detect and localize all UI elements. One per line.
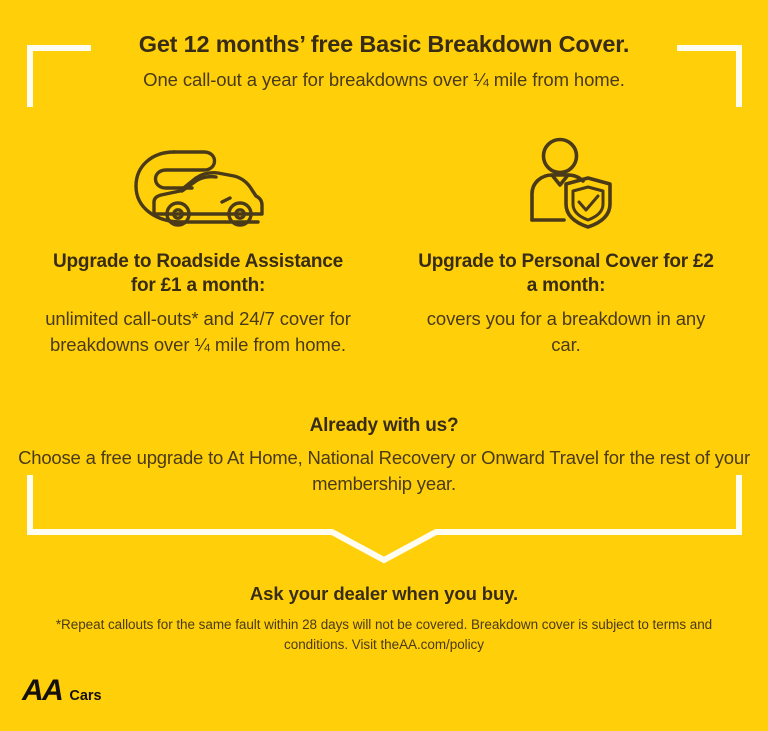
page-subtitle: One call-out a year for breakdowns over … [0,68,768,92]
legal-disclaimer: *Repeat callouts for the same fault with… [54,615,714,654]
breakdown-cover-poster: Get 12 months’ free Basic Breakdown Cove… [0,0,768,731]
page-title: Get 12 months’ free Basic Breakdown Cove… [0,30,768,59]
upgrade-title-personal: Upgrade to Personal Cover for £2 a month… [412,250,720,299]
already-with-us-block: Already with us? Choose a free upgrade t… [0,415,768,496]
car-road-icon [40,132,356,236]
footer-block: Ask your dealer when you buy. *Repeat ca… [0,583,768,654]
already-with-us-title: Already with us? [0,415,768,437]
aa-cars-logo: AA Cars [22,676,102,706]
upgrade-title-roadside: Upgrade to Roadside Assistance for £1 a … [40,250,356,299]
upgrade-body-roadside: unlimited call-outs* and 24/7 cover for … [40,306,356,359]
headline-block: Get 12 months’ free Basic Breakdown Cove… [0,30,768,92]
upgrade-card-roadside: Upgrade to Roadside Assistance for £1 a … [0,132,384,358]
upgrade-card-personal: Upgrade to Personal Cover for £2 a month… [384,132,768,358]
already-with-us-body: Choose a free upgrade to At Home, Nation… [0,445,768,496]
aa-logo-name: Cars [69,689,101,704]
person-shield-icon [412,132,720,236]
call-to-action-text: Ask your dealer when you buy. [0,583,768,605]
aa-logo-mark: AA [22,676,62,706]
upgrade-columns: Upgrade to Roadside Assistance for £1 a … [0,132,768,358]
upgrade-body-personal: covers you for a breakdown in any car. [412,306,720,359]
